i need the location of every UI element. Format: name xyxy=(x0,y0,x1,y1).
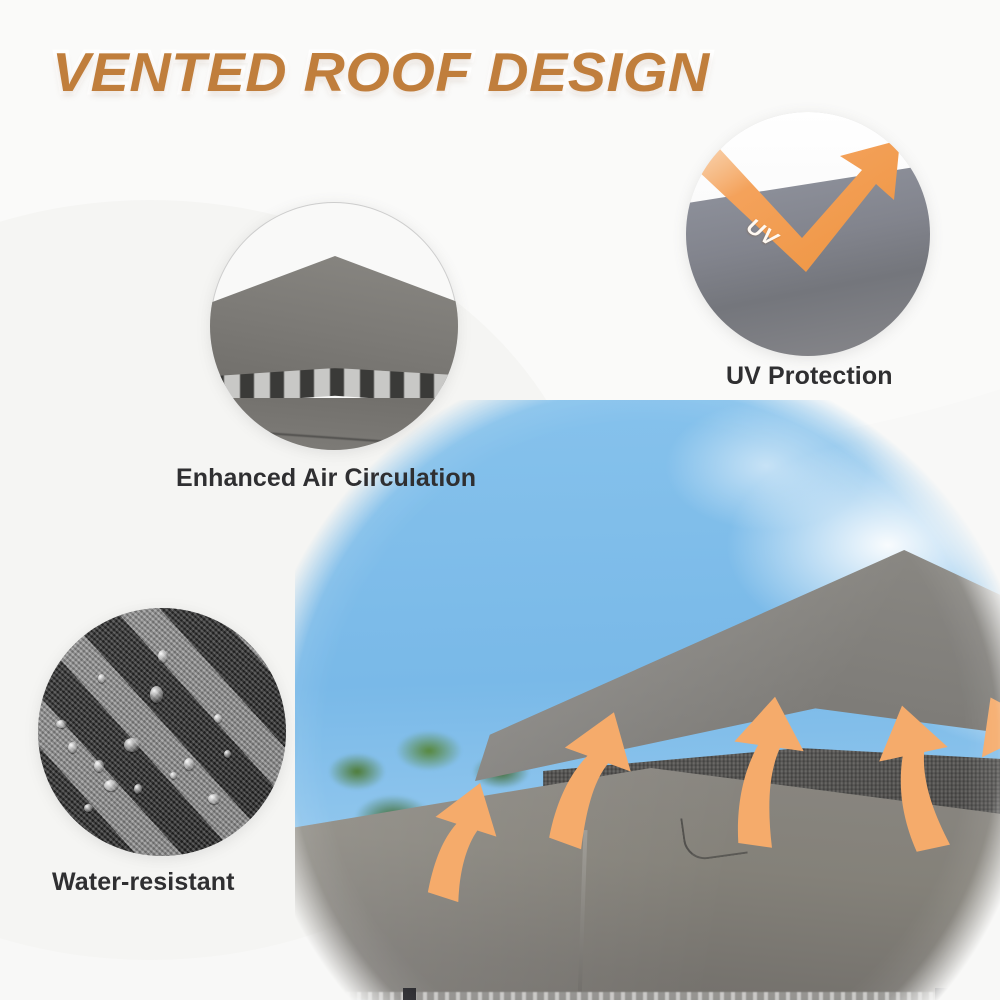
airflow-arrow-icon-3 xyxy=(715,688,819,848)
feature-circle-uv-protection: UV xyxy=(686,112,930,356)
gazebo-post-right xyxy=(935,988,948,1000)
uv-reflect-icon xyxy=(686,112,930,356)
page-title: VENTED ROOF DESIGN xyxy=(52,44,710,100)
feature-circle-water-resistant xyxy=(38,608,286,856)
feature-caption-uv-protection: UV Protection xyxy=(726,362,893,391)
airflow-arrow-icon-4 xyxy=(867,696,971,852)
infographic-canvas: VENTED ROOF DESIGN Enhanced Air Circulat… xyxy=(0,0,1000,1000)
feature-caption-water-resistant: Water-resistant xyxy=(52,868,235,897)
gazebo-post-left xyxy=(403,988,416,1000)
feature-circle-air-circulation xyxy=(210,202,458,450)
airflow-arrow-icon-1 xyxy=(415,772,511,902)
feature-caption-air-circulation: Enhanced Air Circulation xyxy=(176,464,476,493)
airflow-arrow-icon-5 xyxy=(971,682,1000,844)
water-droplets xyxy=(38,608,286,856)
vented-roof-closeup-icon xyxy=(210,256,458,386)
airflow-arrow-icon-2 xyxy=(540,700,644,850)
mesh-netting-curtains xyxy=(335,992,1000,1000)
